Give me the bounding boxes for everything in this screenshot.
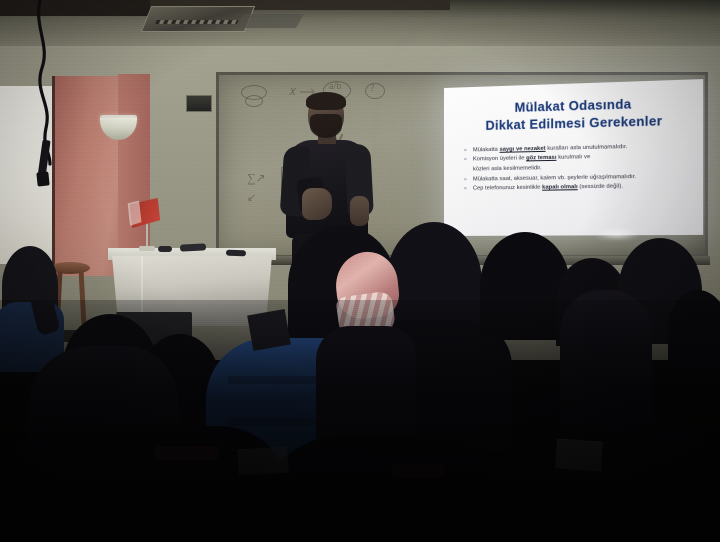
audience-group — [0, 250, 720, 542]
audience-head-right-3 — [668, 290, 720, 368]
wall-switch-box-icon — [186, 95, 212, 112]
slide-bullet-text: kurulmalı ve — [556, 154, 590, 161]
audience-handout-paper-right — [555, 438, 603, 471]
ceiling-vent-shadow — [236, 14, 304, 28]
slide-bullet-text: Komisyon üyeleri ile — [473, 156, 526, 163]
hanging-cable-icon — [6, 0, 176, 200]
chair-back-3 — [650, 514, 710, 528]
slide-bullet-text: kuralları asla unutulmamalıdır. — [546, 144, 628, 152]
slide-bullet-list: Mülakatta saygı ve nezaket kuralları asl… — [460, 141, 690, 194]
chair-back-2 — [392, 464, 444, 478]
presenter-hair — [306, 92, 346, 110]
whiteboard-scribble-oval-2 — [245, 95, 263, 107]
whiteboard-scribble-text-7: ↙ — [247, 191, 256, 204]
slide-bullet-text: Mülakatta — [473, 147, 500, 154]
slide-bullet-text: közleri asla kesilmemelidir. — [473, 165, 542, 172]
slide-bullet-emphasis: göz teması — [526, 155, 556, 162]
slide-title: Mülakat Odasında Dikkat Edilmesi Gereken… — [460, 94, 690, 135]
audience-handout-dark — [247, 309, 291, 351]
whiteboard-scribble-text-4: ∑↗ — [247, 171, 266, 186]
slide-bullet-text: Cep telefonunuz kesinlikle — [473, 185, 542, 192]
slide-bullet-5: Cep telefonunuz kesinlikle kapalı olmalı… — [464, 182, 690, 195]
audience-body-pink-hijab — [316, 326, 416, 446]
audience-frontrow-left — [0, 426, 290, 542]
slide-bullet-text: Mülakatta saat, aksesuar, kalem vb. şeyl… — [473, 173, 636, 182]
slide-bullet-text: (sessizde değil). — [578, 184, 623, 191]
cable-plug-tip — [36, 171, 49, 186]
photo-scene: 𝑥 ⟶ a/b ? ∑↗ n k ↙ Mülakat Odasında Dikk… — [0, 0, 720, 542]
slide-bullet-emphasis: saygı ve nezaket — [500, 145, 546, 152]
presenter-hands — [302, 188, 332, 220]
audience-handout-paper-left — [237, 447, 288, 476]
presenter-forearm — [350, 196, 369, 226]
chair-back-1 — [154, 446, 218, 460]
projected-slide: Mülakat Odasında Dikkat Edilmesi Gereken… — [444, 79, 703, 236]
presenter-beard — [310, 114, 342, 138]
slide-bullet-emphasis: kapalı olmalı — [542, 184, 578, 191]
